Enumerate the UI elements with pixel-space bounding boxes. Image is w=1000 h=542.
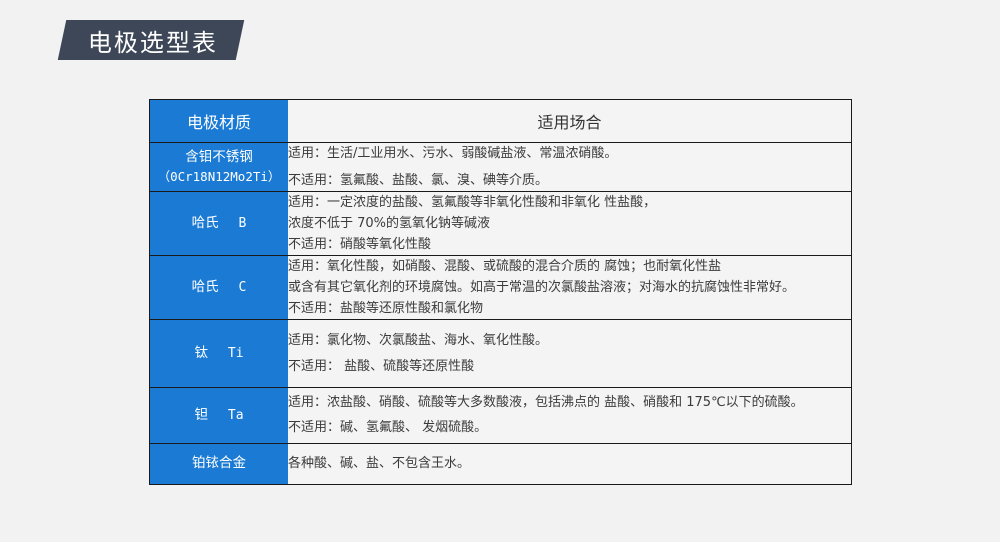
material-name: 钛 (194, 345, 208, 361)
application-line: 不适用： 盐酸、硫酸等还原性酸 (288, 356, 851, 377)
material-grade: Ta (212, 408, 243, 423)
page-root: 电极选型表 电极材质 适用场合 含钼不锈钢 （0Cr18N12Mo2Ti） (0, 0, 1000, 542)
application-line: 浓度不低于 70%的氢氧化钠等碱液 (288, 213, 851, 234)
table-header-row: 电极材质 适用场合 (150, 100, 851, 142)
application-line: 不适用：硝酸等氧化性酸 (288, 234, 851, 255)
table-row: 钽 Ta 适用：浓盐酸、硝酸、硫酸等大多数酸液，包括沸点的 盐酸、硝酸和 175… (150, 387, 851, 443)
application-line: 适用：一定浓度的盐酸、氢氟酸等非氧化性酸和非氧化 性盐酸， (288, 192, 851, 213)
page-title-banner: 电极选型表 (58, 20, 245, 60)
material-cell: 含钼不锈钢 （0Cr18N12Mo2Ti） (150, 142, 288, 191)
application-line: 适用：氧化性酸，如硝酸、混酸、或硫酸的混合介质的 腐蚀；也耐氧化性盐 (288, 256, 851, 277)
application-cell: 适用：氧化性酸，如硝酸、混酸、或硫酸的混合介质的 腐蚀；也耐氧化性盐 或含有其它… (288, 255, 851, 319)
material-grade: Ti (212, 346, 243, 361)
application-cell: 适用：一定浓度的盐酸、氢氟酸等非氧化性酸和非氧化 性盐酸， 浓度不低于 70%的… (288, 191, 851, 255)
application-line: 适用：氯化物、次氯酸盐、海水、氧化性酸。 (288, 330, 851, 351)
column-header-material: 电极材质 (150, 100, 288, 142)
column-header-application: 适用场合 (288, 100, 851, 142)
material-cell: 哈氏 B (150, 191, 288, 255)
table-row: 哈氏 B 适用：一定浓度的盐酸、氢氟酸等非氧化性酸和非氧化 性盐酸， 浓度不低于… (150, 191, 851, 255)
electrode-selection-table: 电极材质 适用场合 含钼不锈钢 （0Cr18N12Mo2Ti） 适用：生活/工业… (149, 99, 852, 485)
material-grade: C (223, 280, 246, 295)
material-name: 哈氏 (192, 279, 219, 295)
application-line: 适用：浓盐酸、硝酸、硫酸等大多数酸液，包括沸点的 盐酸、硝酸和 175℃以下的硫… (288, 392, 851, 413)
material-code: （0Cr18N12Mo2Ti） (150, 167, 288, 186)
application-cell: 适用：氯化物、次氯酸盐、海水、氧化性酸。 不适用： 盐酸、硫酸等还原性酸 (288, 319, 851, 387)
material-cell: 铂铱合金 (150, 443, 288, 484)
application-line: 适用：生活/工业用水、污水、弱酸碱盐液、常温浓硝酸。 (288, 143, 851, 164)
table-row: 哈氏 C 适用：氧化性酸，如硝酸、混酸、或硫酸的混合介质的 腐蚀；也耐氧化性盐 … (150, 255, 851, 319)
material-name: 钽 (194, 407, 208, 423)
application-cell: 适用：浓盐酸、硝酸、硫酸等大多数酸液，包括沸点的 盐酸、硝酸和 175℃以下的硫… (288, 387, 851, 443)
material-name: 铂铱合金 (192, 455, 246, 471)
application-cell: 各种酸、碱、盐、不包含王水。 (288, 443, 851, 484)
material-name: 哈氏 (192, 215, 219, 231)
application-line: 不适用：氢氟酸、盐酸、氯、溴、碘等介质。 (288, 170, 851, 191)
material-name: 含钼不锈钢 (185, 149, 253, 165)
material-cell: 钛 Ti (150, 319, 288, 387)
table-row: 含钼不锈钢 （0Cr18N12Mo2Ti） 适用：生活/工业用水、污水、弱酸碱盐… (150, 142, 851, 191)
application-line: 各种酸、碱、盐、不包含王水。 (288, 453, 851, 474)
page-title: 电极选型表 (88, 23, 218, 58)
application-line: 或含有其它氧化剂的环境腐蚀。如高于常温的次氯酸盐溶液；对海水的抗腐蚀性非常好。 (288, 277, 851, 298)
material-grade: B (223, 216, 246, 231)
material-cell: 钽 Ta (150, 387, 288, 443)
table-row: 钛 Ti 适用：氯化物、次氯酸盐、海水、氧化性酸。 不适用： 盐酸、硫酸等还原性… (150, 319, 851, 387)
application-line: 不适用：盐酸等还原性酸和氯化物 (288, 298, 851, 319)
application-line: 不适用：碱、氢氟酸、 发烟硫酸。 (288, 417, 851, 438)
application-cell: 适用：生活/工业用水、污水、弱酸碱盐液、常温浓硝酸。 不适用：氢氟酸、盐酸、氯、… (288, 142, 851, 191)
table-row: 铂铱合金 各种酸、碱、盐、不包含王水。 (150, 443, 851, 484)
material-cell: 哈氏 C (150, 255, 288, 319)
